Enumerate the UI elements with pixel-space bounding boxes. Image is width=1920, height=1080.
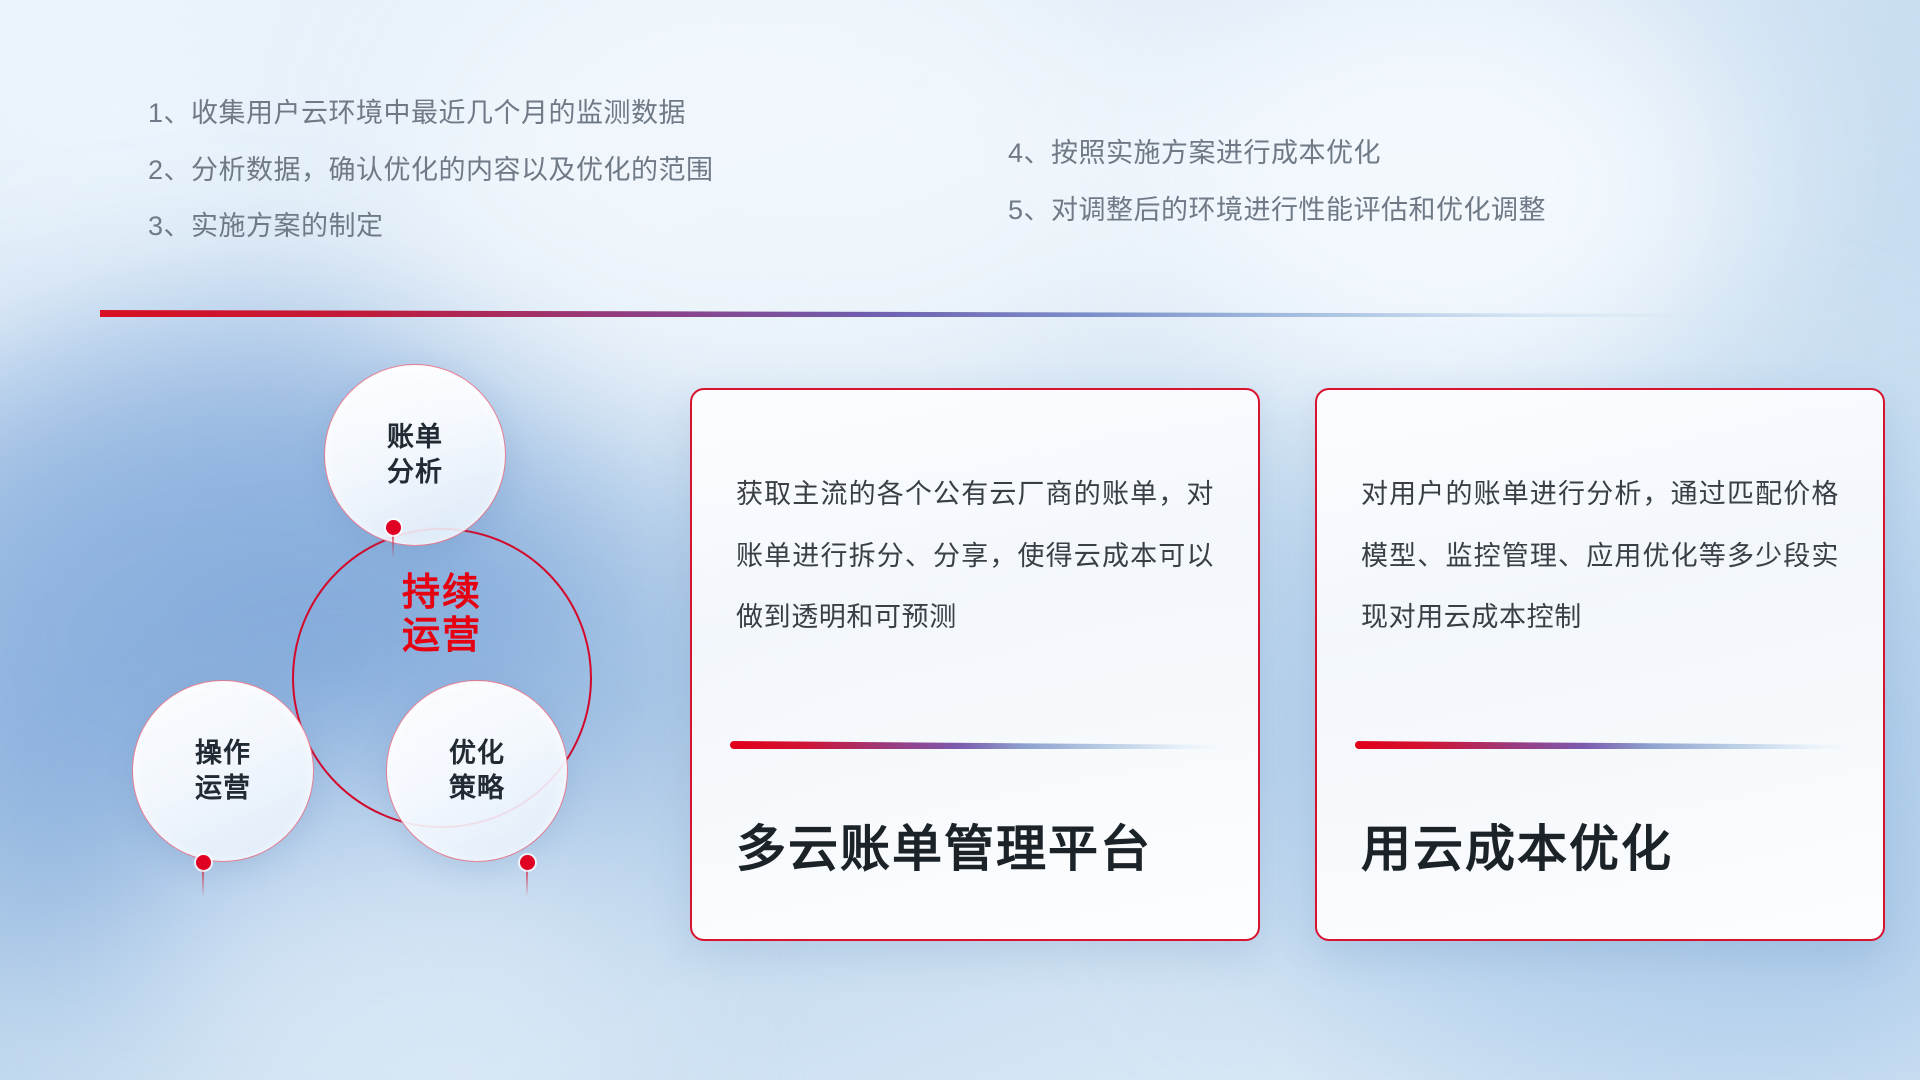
bubble-label: 优化 策略 bbox=[449, 736, 505, 806]
card-body-text: 获取主流的各个公有云厂商的账单，对账单进行拆分、分享，使得云成本可以做到透明和可… bbox=[736, 464, 1214, 649]
node-dot-icon bbox=[196, 855, 211, 870]
feature-cards: 获取主流的各个公有云厂商的账单，对账单进行拆分、分享，使得云成本可以做到透明和可… bbox=[690, 388, 1885, 941]
connector-tail bbox=[202, 867, 204, 897]
connector-tail bbox=[526, 867, 528, 897]
card-divider bbox=[1355, 741, 1849, 749]
bubble-bill-analysis[interactable]: 账单 分析 bbox=[324, 364, 506, 546]
process-steps: 1、收集用户云环境中最近几个月的监测数据 2、分析数据，确认优化的内容以及优化的… bbox=[148, 96, 1788, 244]
step-item: 1、收集用户云环境中最近几个月的监测数据 bbox=[148, 96, 1008, 131]
card-divider bbox=[730, 741, 1224, 749]
bubble-optimization-strategy[interactable]: 优化 策略 bbox=[386, 680, 568, 862]
section-divider bbox=[100, 310, 1700, 317]
step-item: 3、实施方案的制定 bbox=[148, 209, 1008, 244]
card-title: 用云成本优化 bbox=[1361, 809, 1673, 881]
center-label: 持续 运营 bbox=[292, 572, 592, 659]
slide-canvas: 1、收集用户云环境中最近几个月的监测数据 2、分析数据，确认优化的内容以及优化的… bbox=[0, 0, 1920, 1080]
step-item: 2、分析数据，确认优化的内容以及优化的范围 bbox=[148, 153, 1008, 188]
card-cloud-cost-optimization[interactable]: 对用户的账单进行分析，通过匹配价格模型、监控管理、应用优化等多少段实现对用云成本… bbox=[1315, 388, 1885, 941]
steps-column-left: 1、收集用户云环境中最近几个月的监测数据 2、分析数据，确认优化的内容以及优化的… bbox=[148, 96, 1008, 244]
card-multi-cloud-billing-platform[interactable]: 获取主流的各个公有云厂商的账单，对账单进行拆分、分享，使得云成本可以做到透明和可… bbox=[690, 388, 1260, 941]
node-dot-icon bbox=[386, 520, 401, 535]
bubble-label: 操作 运营 bbox=[195, 736, 251, 806]
continuous-operation-diagram: 持续 运营 账单 分析 操作 运营 优化 策略 bbox=[100, 350, 620, 970]
card-title: 多云账单管理平台 bbox=[736, 809, 1152, 881]
connector-tail bbox=[392, 532, 394, 558]
bubble-operation-management[interactable]: 操作 运营 bbox=[132, 680, 314, 862]
bubble-label: 账单 分析 bbox=[387, 420, 443, 490]
card-body-text: 对用户的账单进行分析，通过匹配价格模型、监控管理、应用优化等多少段实现对用云成本… bbox=[1361, 464, 1839, 649]
node-dot-icon bbox=[520, 855, 535, 870]
step-item: 4、按照实施方案进行成本优化 bbox=[1008, 136, 1768, 171]
step-item: 5、对调整后的环境进行性能评估和优化调整 bbox=[1008, 193, 1768, 228]
steps-column-right: 4、按照实施方案进行成本优化 5、对调整后的环境进行性能评估和优化调整 bbox=[1008, 96, 1768, 244]
